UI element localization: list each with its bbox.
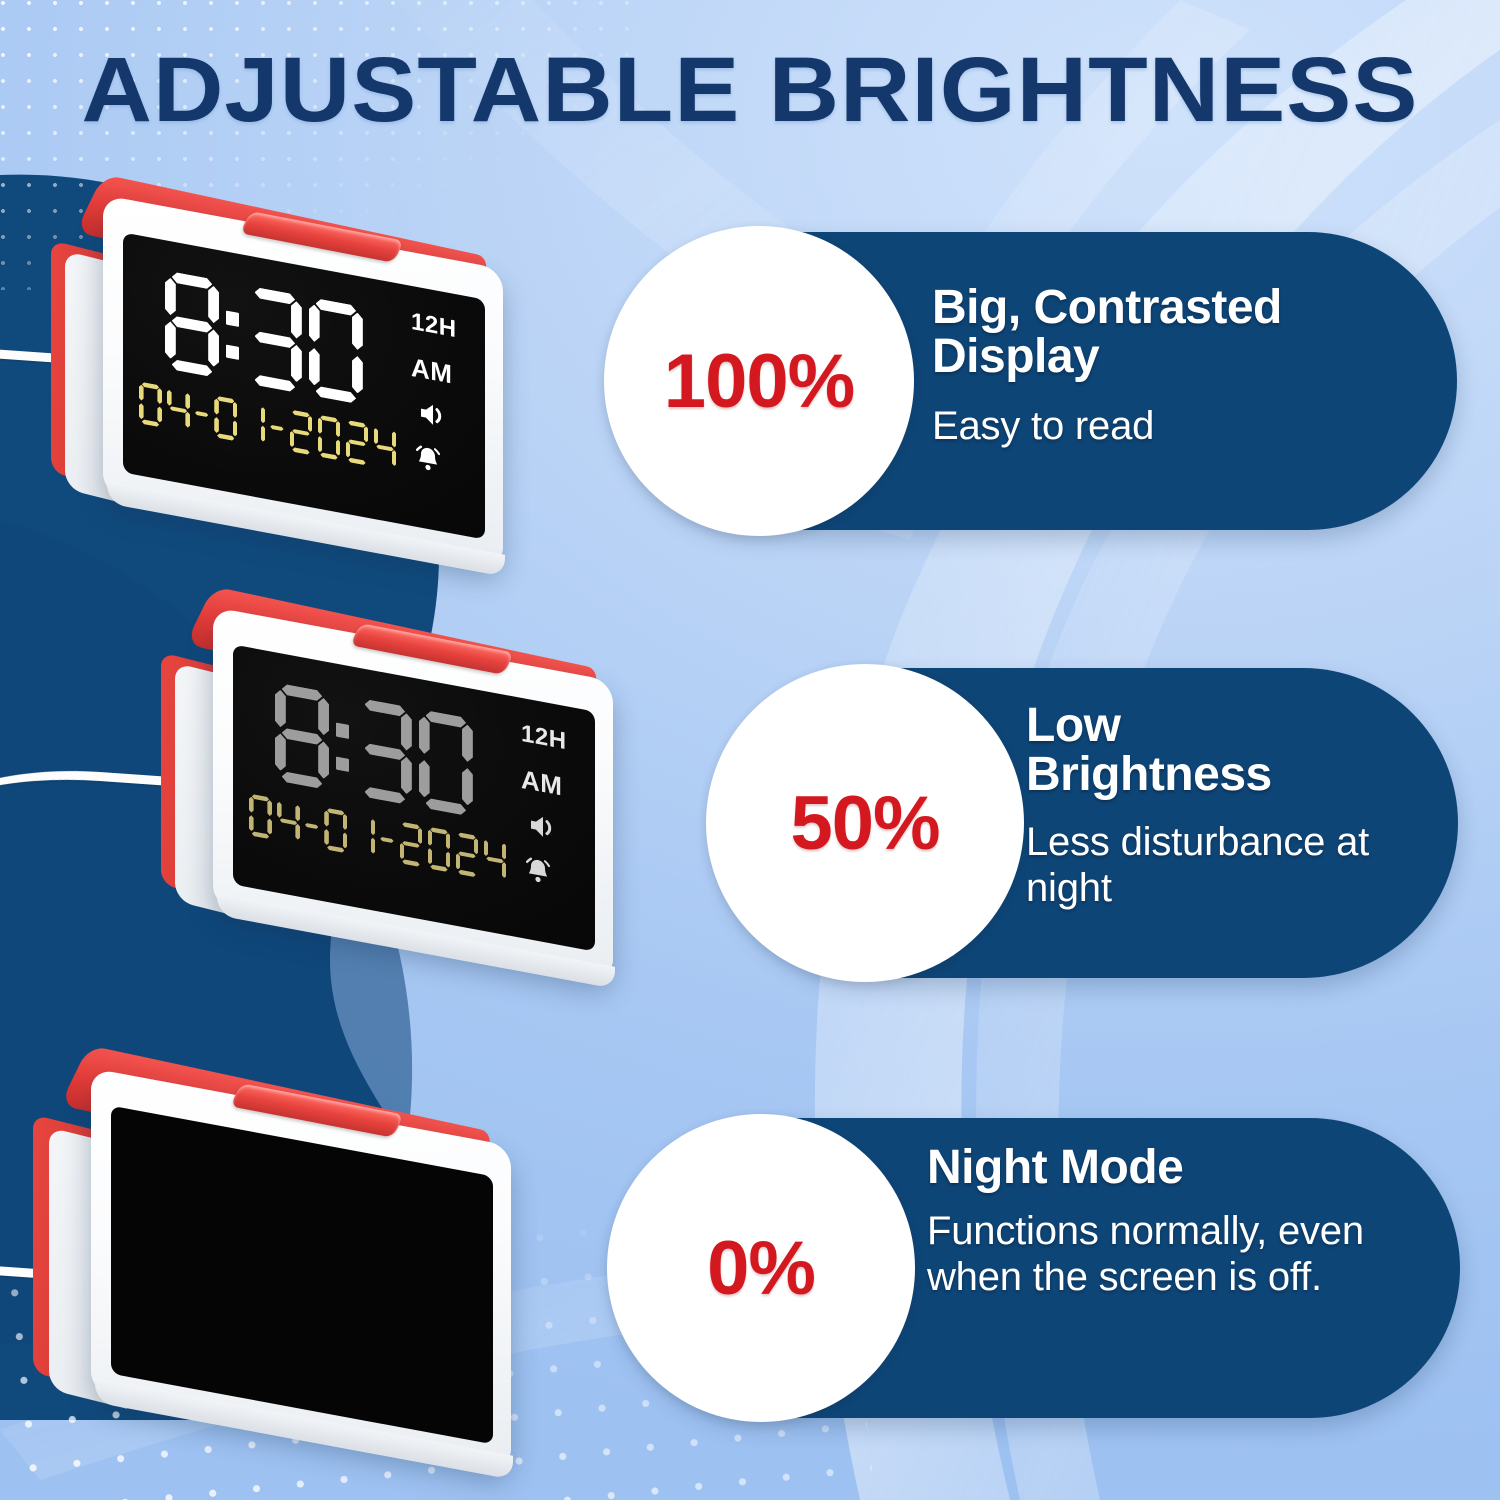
seven-segment-dash [195,392,209,437]
seven-segment-digit [428,827,451,873]
feature-badge-100[interactable]: 100% Big, Contrasted Display Easy to rea… [612,232,1457,530]
page-title: ADJUSTABLE BRIGHTNESS [0,38,1500,143]
seven-segment-digit [374,425,397,471]
feature-subtext: Functions normally, even when the screen… [927,1209,1397,1300]
clock-device-50-percent: 12H AM [155,630,655,960]
percent-value: 100% [664,338,854,425]
seven-segment-colon [336,694,351,795]
percent-value: 50% [790,780,939,867]
clock-device-100-percent: 12H AM [45,218,545,548]
seven-segment-digit [248,286,302,394]
seven-segment-dash [305,804,319,849]
hour-format-label: 12H [411,308,457,344]
meridiem-label: AM [521,764,562,803]
seven-segment-digit [290,409,313,455]
seven-segment-digit [346,420,369,466]
seven-segment-digit [275,682,329,790]
seven-segment-digit [352,813,375,859]
seven-segment-digit [400,821,423,867]
feature-heading: Low Brightness [1026,702,1356,800]
feature-badge-50[interactable]: 50% Low Brightness Less disturbance at n… [718,668,1458,978]
seven-segment-dash [270,406,284,451]
alarm-bell-icon [413,442,443,481]
seven-segment-digit [165,270,219,378]
seven-segment-digit [139,381,162,427]
seven-segment-digit [309,297,363,405]
seven-segment-digit [277,799,300,845]
feature-badge-0[interactable]: 0% Night Mode Functions normally, even w… [615,1118,1460,1418]
seven-segment-digit [214,395,237,441]
feature-heading: Night Mode [927,1144,1437,1193]
time-display [275,682,473,817]
percent-circle-0: 0% [607,1114,915,1422]
badge-text-block-50: Low Brightness Less disturbance at night [1026,702,1456,911]
seven-segment-digit [249,793,272,839]
feature-subtext: Easy to read [932,404,1432,450]
speaker-icon [529,811,557,847]
feature-subtext: Less disturbance at night [1026,820,1426,911]
seven-segment-digit [242,401,265,447]
percent-circle-50: 50% [706,664,1024,982]
seven-segment-digit [324,807,347,853]
badge-text-block-100: Big, Contrasted Display Easy to read [932,284,1432,450]
alarm-bell-icon [523,854,553,893]
hour-format-label: 12H [521,720,567,756]
time-display [165,270,363,405]
seven-segment-colon [226,282,241,383]
clock-device-0-percent [25,1095,545,1455]
seven-segment-digit [419,709,473,817]
seven-segment-digit [318,415,341,461]
percent-value: 0% [707,1225,815,1312]
speaker-icon [419,399,447,435]
seven-segment-dash [380,818,394,863]
seven-segment-digit [456,832,479,878]
seven-segment-digit [358,698,412,806]
percent-circle-100: 100% [604,226,914,536]
seven-segment-digit [484,837,507,883]
feature-heading: Big, Contrasted Display [932,284,1432,382]
meridiem-label: AM [411,352,452,391]
badge-text-block-0: Night Mode Functions normally, even when… [927,1144,1437,1300]
seven-segment-digit [167,387,190,433]
